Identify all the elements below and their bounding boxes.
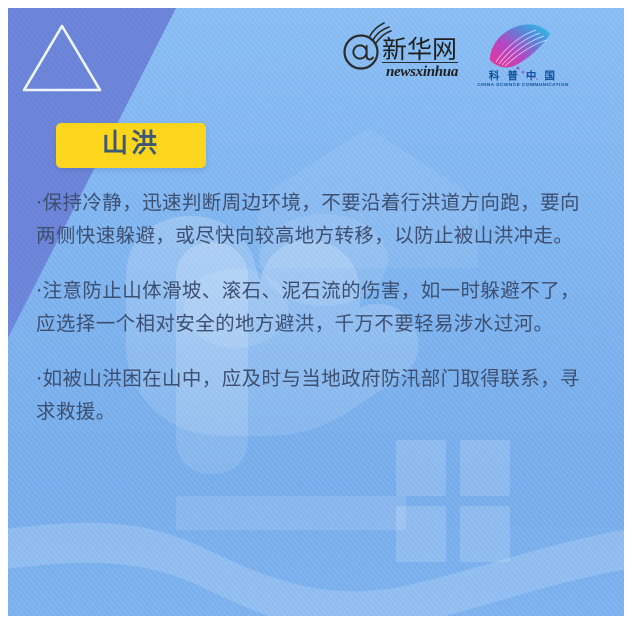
- at-symbol-icon: [345, 36, 378, 69]
- xinhua-cn-wordmark: 新华网: [382, 35, 457, 64]
- watermark-wave: [8, 523, 624, 616]
- kepu-en-wordmark: CHINA SCIENCE COMMUNICATION: [477, 82, 569, 88]
- watermark-window-grid: [396, 440, 510, 562]
- xinhuanet-logo-icon: 新华网 newsxinhua: [342, 22, 460, 84]
- logo-kepu-china[interactable]: 科 普 中 国 CHINA SCIENCE COMMUNICATION: [474, 22, 572, 88]
- advice-paragraph-1: ·保持冷静，迅速判断周边环境，不要沿着行洪道方向跑，要向两侧快速躲避，或尽快向较…: [36, 186, 586, 252]
- body-copy: ·保持冷静，迅速判断周边环境，不要沿着行洪道方向跑，要向两侧快速躲避，或尽快向较…: [36, 186, 586, 428]
- advice-paragraph-3: ·如被山洪困在山中，应及时与当地政府防汛部门取得联系，寻求救援。: [36, 362, 586, 428]
- kepu-cn-wordmark: 科 普 中 国: [489, 69, 557, 82]
- advice-paragraph-2: ·注意防止山体滑坡、滚石、泥石流的伤害，如一时躲避不了，应选择一个相对安全的地方…: [36, 274, 586, 340]
- poster-root: 新华网 newsxinhua: [0, 0, 632, 624]
- logo-group: 新华网 newsxinhua: [342, 22, 572, 88]
- decorative-triangle-icon: [14, 14, 124, 106]
- title-badge: 山洪: [56, 123, 206, 168]
- title-badge-label: 山洪: [82, 130, 180, 159]
- watermark-ledge: [176, 496, 406, 530]
- kepu-china-logo-icon: 科 普 中 国 CHINA SCIENCE COMMUNICATION: [474, 22, 572, 88]
- logo-xinhuanet[interactable]: 新华网 newsxinhua: [342, 22, 460, 84]
- poster-canvas: 新华网 newsxinhua: [8, 8, 624, 616]
- xinhua-en-wordmark: newsxinhua: [386, 64, 459, 80]
